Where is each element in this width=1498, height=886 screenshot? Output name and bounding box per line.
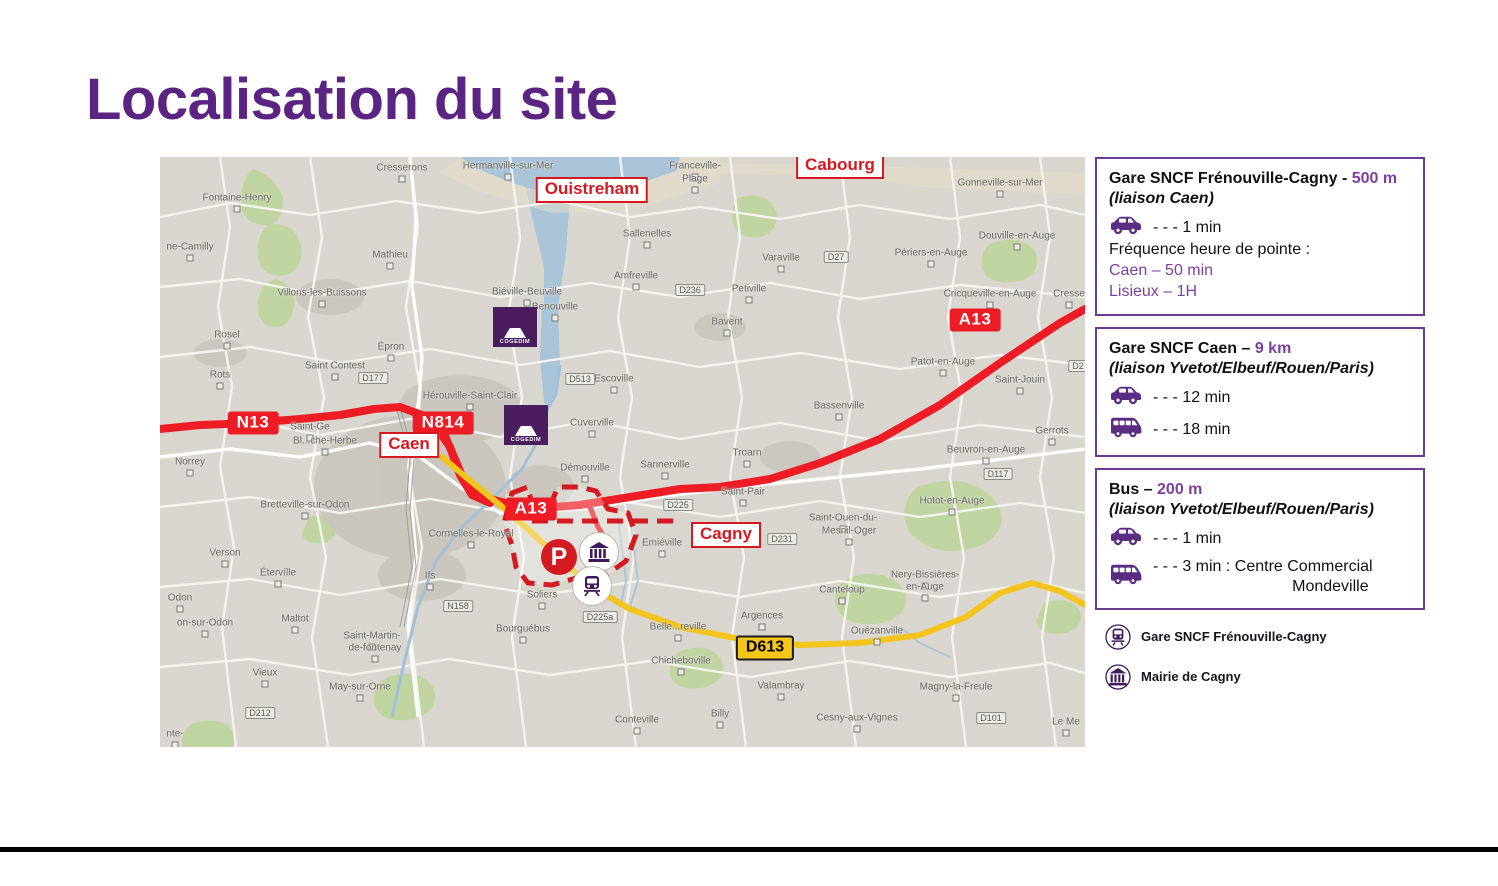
legend-label: Gare SNCF Frénouville-Cagny	[1141, 629, 1327, 644]
info-box-title-main: Gare SNCF Frénouville-Cagny -	[1109, 170, 1352, 187]
info-box: Bus – 200 m(liaison Yvetot/Elbeuf/Rouen/…	[1095, 468, 1425, 609]
info-box-subtitle: (liaison Caen)	[1109, 189, 1413, 209]
train-station-marker[interactable]	[572, 566, 612, 606]
info-box-line: Caen – 50 min	[1109, 261, 1413, 282]
town-hall-icon	[587, 540, 611, 564]
map-logos: COGEDIMCOGEDIM	[160, 157, 1085, 747]
page-title: Localisation du site	[86, 66, 617, 133]
train-station-icon	[1095, 624, 1141, 650]
cogedim-chevron-cut	[509, 317, 521, 328]
car-icon	[1109, 526, 1149, 551]
transport-duration: - - - 18 min	[1153, 420, 1230, 439]
transport-row: - - - 3 min : Centre CommercialMondevill…	[1109, 557, 1413, 595]
transport-row-text: - - - 3 min : Centre CommercialMondevill…	[1149, 557, 1373, 595]
info-box-subtitle: (liaison Yvetot/Elbeuf/Rouen/Paris)	[1109, 359, 1413, 379]
info-box-title-distance: 200 m	[1157, 481, 1202, 498]
info-box-line: Fréquence heure de pointe :	[1109, 240, 1413, 261]
transport-destination: Mondeville	[1153, 577, 1373, 596]
car-icon	[1109, 526, 1143, 546]
legend-row: Gare SNCF Frénouville-Cagny	[1095, 624, 1425, 650]
train-station-icon	[580, 574, 604, 598]
transport-row-text: - - - 1 min	[1149, 529, 1221, 548]
bus-icon	[1109, 563, 1143, 585]
info-box-title-main: Bus –	[1109, 481, 1157, 498]
transport-duration: - - - 1 min	[1153, 218, 1221, 237]
transport-row: - - - 1 min	[1109, 215, 1413, 240]
transport-duration: - - - 1 min	[1153, 529, 1221, 548]
bus-icon	[1109, 416, 1143, 438]
info-box-title-main: Gare SNCF Caen –	[1109, 340, 1255, 357]
info-box-title-distance: 500 m	[1352, 170, 1397, 187]
info-box-title: Gare SNCF Frénouville-Cagny - 500 m	[1109, 169, 1413, 189]
info-panel: Gare SNCF Frénouville-Cagny - 500 m(liai…	[1095, 157, 1425, 690]
train-station-icon	[1105, 624, 1131, 650]
map-canvas[interactable]: CresseronsHermanville-sur-MerFranceville…	[160, 157, 1085, 747]
cogedim-wordmark: COGEDIM	[511, 437, 541, 443]
parking-marker[interactable]: P	[541, 539, 577, 575]
bus-icon	[1109, 416, 1149, 443]
cogedim-chevron-cut	[520, 415, 532, 426]
car-icon	[1109, 385, 1143, 405]
transport-duration: - - - 12 min	[1153, 388, 1230, 407]
footer-rule	[0, 847, 1498, 852]
info-box: Gare SNCF Frénouville-Cagny - 500 m(liai…	[1095, 157, 1425, 316]
legend-row: Mairie de Cagny	[1095, 664, 1425, 690]
town-hall-icon	[1095, 664, 1141, 690]
map-legend: Gare SNCF Frénouville-CagnyMairie de Cag…	[1095, 624, 1425, 690]
info-box-subtitle: (liaison Yvetot/Elbeuf/Rouen/Paris)	[1109, 500, 1413, 520]
transport-row-text: - - - 18 min	[1149, 420, 1230, 439]
transport-row-text: - - - 1 min	[1149, 218, 1221, 237]
info-box: Gare SNCF Caen – 9 km(liaison Yvetot/Elb…	[1095, 327, 1425, 457]
town-hall-icon	[1105, 664, 1131, 690]
legend-label: Mairie de Cagny	[1141, 669, 1241, 684]
transport-row: - - - 12 min	[1109, 385, 1413, 410]
cogedim-logo: COGEDIM	[504, 405, 548, 445]
car-icon	[1109, 215, 1149, 240]
info-box-title: Gare SNCF Caen – 9 km	[1109, 339, 1413, 359]
transport-row: - - - 1 min	[1109, 526, 1413, 551]
info-box-title-distance: 9 km	[1255, 340, 1291, 357]
transport-row: - - - 18 min	[1109, 416, 1413, 443]
info-box-title: Bus – 200 m	[1109, 480, 1413, 500]
bus-icon	[1109, 563, 1149, 590]
car-icon	[1109, 215, 1143, 235]
info-box-line: Lisieux – 1H	[1109, 282, 1413, 303]
transport-row-text: - - - 12 min	[1149, 388, 1230, 407]
cogedim-wordmark: COGEDIM	[500, 339, 530, 345]
car-icon	[1109, 385, 1149, 410]
cogedim-logo: COGEDIM	[493, 307, 537, 347]
transport-duration: - - - 3 min : Centre Commercial	[1153, 557, 1373, 576]
